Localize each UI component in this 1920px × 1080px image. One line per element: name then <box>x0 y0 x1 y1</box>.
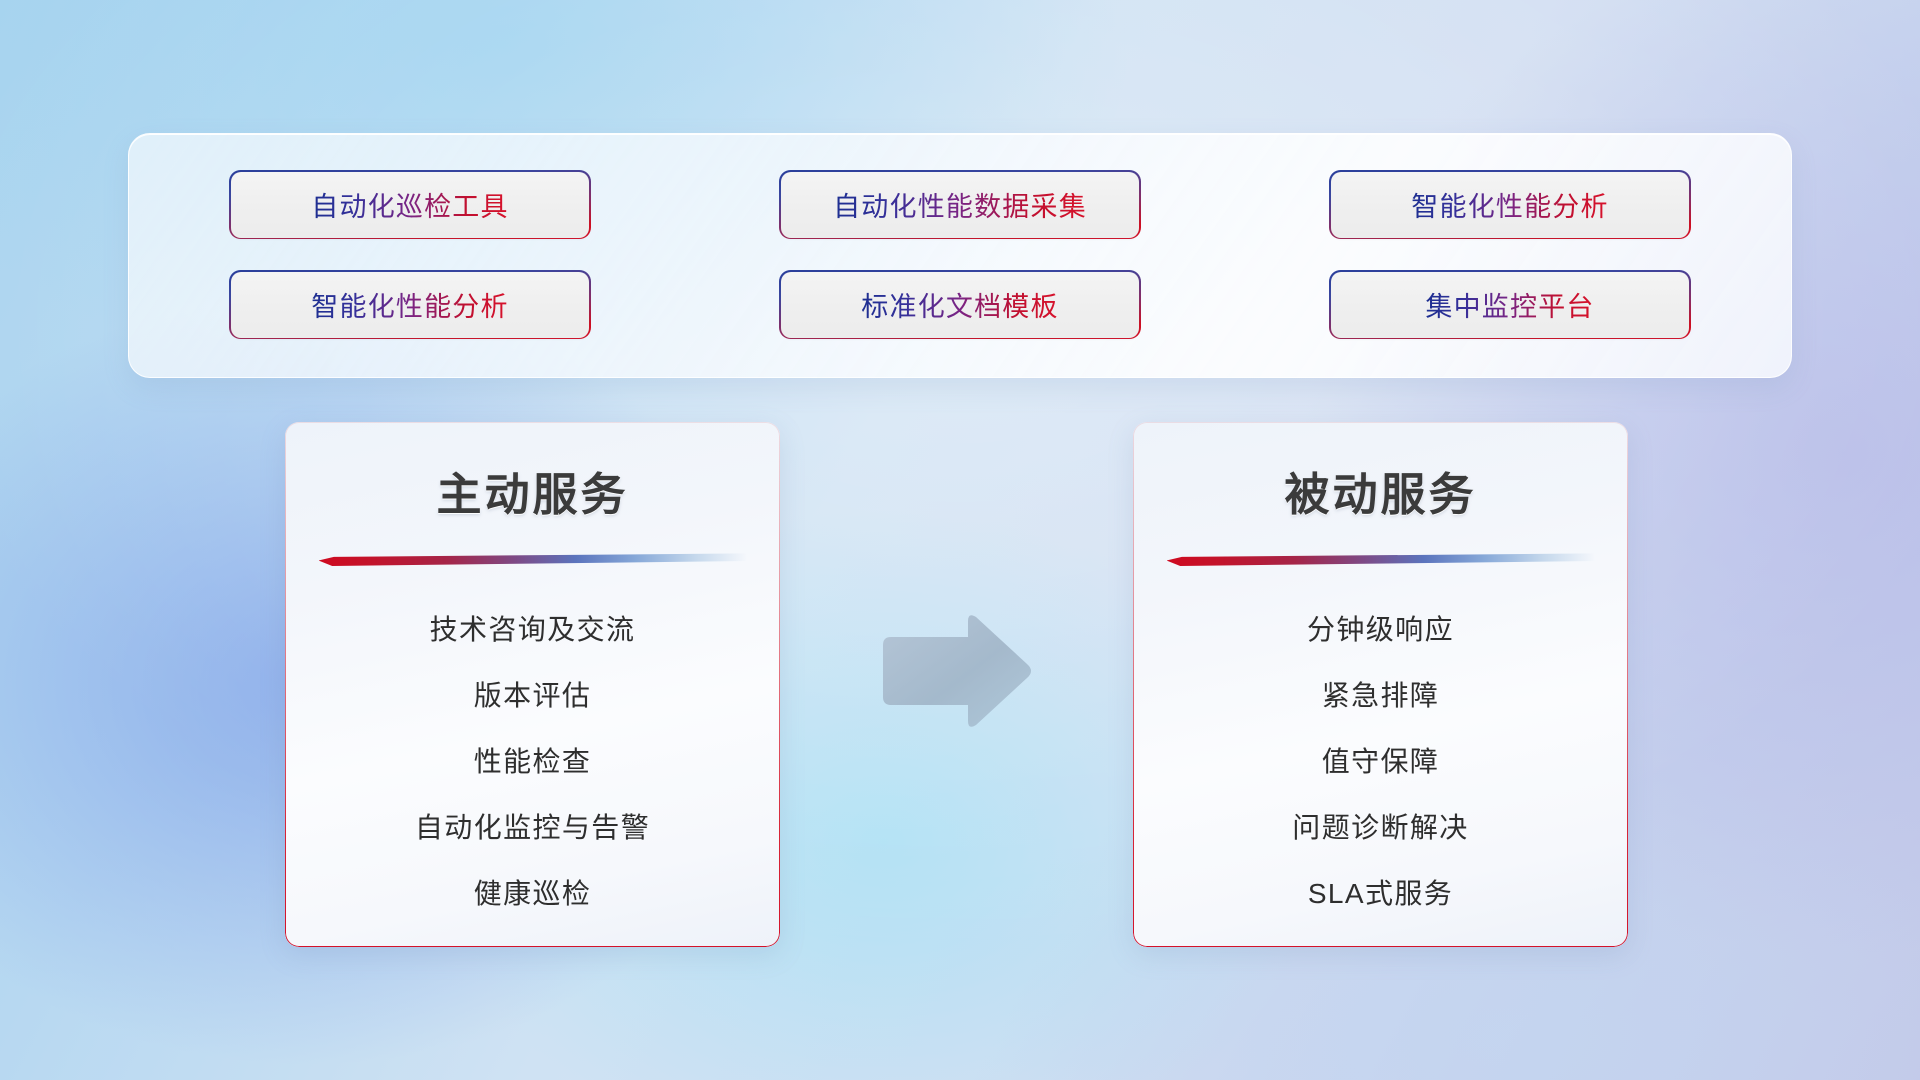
list-item: 问题诊断解决 <box>1292 806 1468 846</box>
service-item-list: 技术咨询及交流 版本评估 性能检查 自动化监控与告警 健康巡检 <box>285 608 780 912</box>
list-item: 版本评估 <box>474 674 592 714</box>
service-item-list: 分钟级响应 紧急排障 值守保障 问题诊断解决 SLA式服务 <box>1133 608 1628 912</box>
card-title: 主动服务 <box>285 458 780 523</box>
capability-tag-4[interactable]: 智能化性能分析 <box>231 272 589 338</box>
capability-tag-5[interactable]: 标准化文档模板 <box>781 272 1139 338</box>
list-item: 紧急排障 <box>1322 674 1440 714</box>
capability-tag-label: 自动化性能数据采集 <box>833 185 1087 224</box>
card-title: 被动服务 <box>1133 458 1628 523</box>
capability-tag-label: 自动化巡检工具 <box>311 185 508 224</box>
list-item: 技术咨询及交流 <box>430 608 636 648</box>
service-card-reactive: 被动服务 分钟级响应 紧急排障 值守保障 问题诊断解决 SLA式服务 <box>1133 422 1628 947</box>
capability-tag-1[interactable]: 自动化巡检工具 <box>231 172 589 238</box>
capability-tag-2[interactable]: 自动化性能数据采集 <box>781 172 1139 238</box>
capability-tag-6[interactable]: 集中监控平台 <box>1331 272 1689 338</box>
capability-tag-label: 标准化文档模板 <box>861 285 1058 324</box>
capability-tags-grid: 自动化巡检工具 自动化性能数据采集 智能化性能分析 智能化性能分析 标准化文档模… <box>231 172 1689 338</box>
capability-tag-label: 智能化性能分析 <box>1411 185 1608 224</box>
list-item: 健康巡检 <box>474 872 592 912</box>
capability-tags-panel: 自动化巡检工具 自动化性能数据采集 智能化性能分析 智能化性能分析 标准化文档模… <box>128 133 1792 378</box>
list-item: SLA式服务 <box>1308 872 1453 912</box>
list-item: 分钟级响应 <box>1307 608 1454 648</box>
capability-tag-label: 集中监控平台 <box>1425 285 1594 324</box>
capability-tag-label: 智能化性能分析 <box>311 285 508 324</box>
slide-canvas: 自动化巡检工具 自动化性能数据采集 智能化性能分析 智能化性能分析 标准化文档模… <box>0 0 1920 1080</box>
card-divider <box>1167 553 1595 566</box>
list-item: 值守保障 <box>1322 740 1440 780</box>
list-item: 自动化监控与告警 <box>415 806 650 846</box>
card-divider <box>319 553 747 566</box>
list-item: 性能检查 <box>474 740 592 780</box>
capability-tag-3[interactable]: 智能化性能分析 <box>1331 172 1689 238</box>
service-card-proactive: 主动服务 技术咨询及交流 版本评估 性能检查 自动化监控与告警 健康巡检 <box>285 422 780 947</box>
arrow-right-icon <box>875 612 1035 730</box>
